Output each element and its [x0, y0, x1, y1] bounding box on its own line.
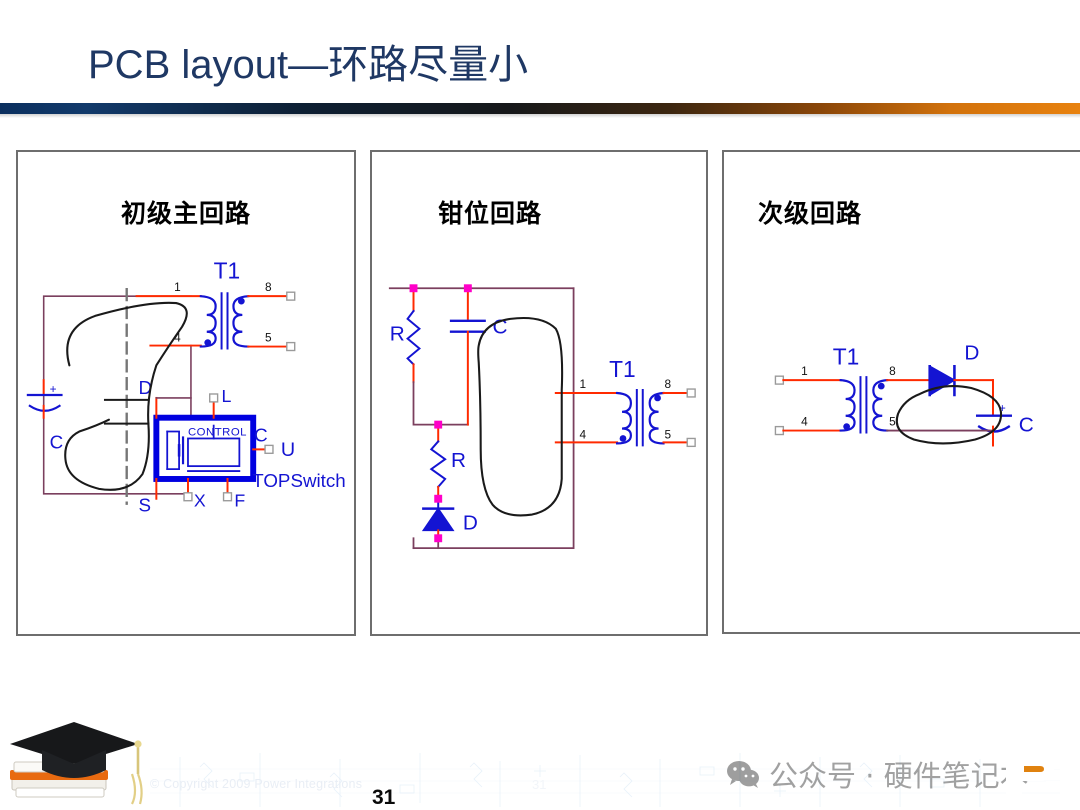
svg-text:TOPSwitch: TOPSwitch — [252, 470, 346, 491]
graduation-cap-books-image — [4, 716, 154, 810]
svg-text:F: F — [234, 491, 245, 511]
watermark-text: 公众号 · 硬件笔记本 — [769, 753, 1029, 795]
copyright-text: © Copyright 2009 Power Integrations — [150, 777, 362, 791]
title-divider-shadow — [0, 114, 1080, 118]
page-number-black: 31 — [372, 786, 395, 810]
logo-text: TRAINING — [1020, 796, 1071, 807]
slide-root: PCB layout—环路尽量小 初级主回路 + C — [0, 0, 1080, 810]
svg-text:5: 5 — [664, 427, 671, 441]
svg-text:C: C — [254, 424, 268, 445]
svg-text:L: L — [222, 386, 232, 406]
svg-text:X: X — [194, 491, 206, 511]
svg-text:1: 1 — [801, 364, 808, 378]
page-number-white: 31 — [532, 777, 546, 792]
pi-training-logo: TRAINING — [1000, 753, 1076, 807]
svg-text:R: R — [390, 323, 405, 346]
title-divider-bar — [0, 103, 1080, 114]
svg-text:T1: T1 — [609, 356, 636, 382]
wechat-icon — [726, 760, 760, 788]
panel-clamp-loop: 钳位回路 R C — [370, 150, 708, 636]
svg-text:8: 8 — [664, 377, 671, 391]
svg-text:8: 8 — [889, 364, 896, 378]
svg-text:T1: T1 — [833, 343, 860, 369]
circuit-diagram-secondary: 1 4 8 5 T1 D + C — [724, 152, 1080, 632]
svg-text:1: 1 — [174, 280, 181, 294]
wechat-watermark: 公众号 · 硬件笔记本 — [726, 752, 1029, 796]
svg-text:4: 4 — [801, 415, 808, 429]
svg-text:D: D — [964, 341, 979, 364]
svg-text:D: D — [463, 511, 478, 534]
svg-text:R: R — [451, 449, 466, 472]
svg-text:C: C — [50, 431, 64, 452]
svg-text:5: 5 — [889, 415, 896, 429]
panel-primary-main-loop: 初级主回路 + C — [16, 150, 356, 636]
svg-text:5: 5 — [265, 331, 272, 345]
page-title: PCB layout—环路尽量小 — [88, 36, 948, 94]
circuit-diagram-clamp: R C R D — [372, 152, 706, 634]
svg-text:+: + — [50, 382, 57, 396]
circuit-diagram-primary: + C — [18, 152, 354, 634]
svg-text:T1: T1 — [214, 257, 241, 283]
svg-text:4: 4 — [580, 427, 587, 441]
panel-secondary-loop: 次级回路 1 4 8 5 T1 — [722, 150, 1080, 634]
svg-text:C: C — [1019, 414, 1034, 437]
svg-text:8: 8 — [265, 280, 272, 294]
svg-text:CONTROL: CONTROL — [188, 426, 247, 438]
svg-text:S: S — [139, 495, 152, 516]
svg-text:1: 1 — [580, 377, 587, 391]
svg-text:U: U — [281, 439, 295, 461]
